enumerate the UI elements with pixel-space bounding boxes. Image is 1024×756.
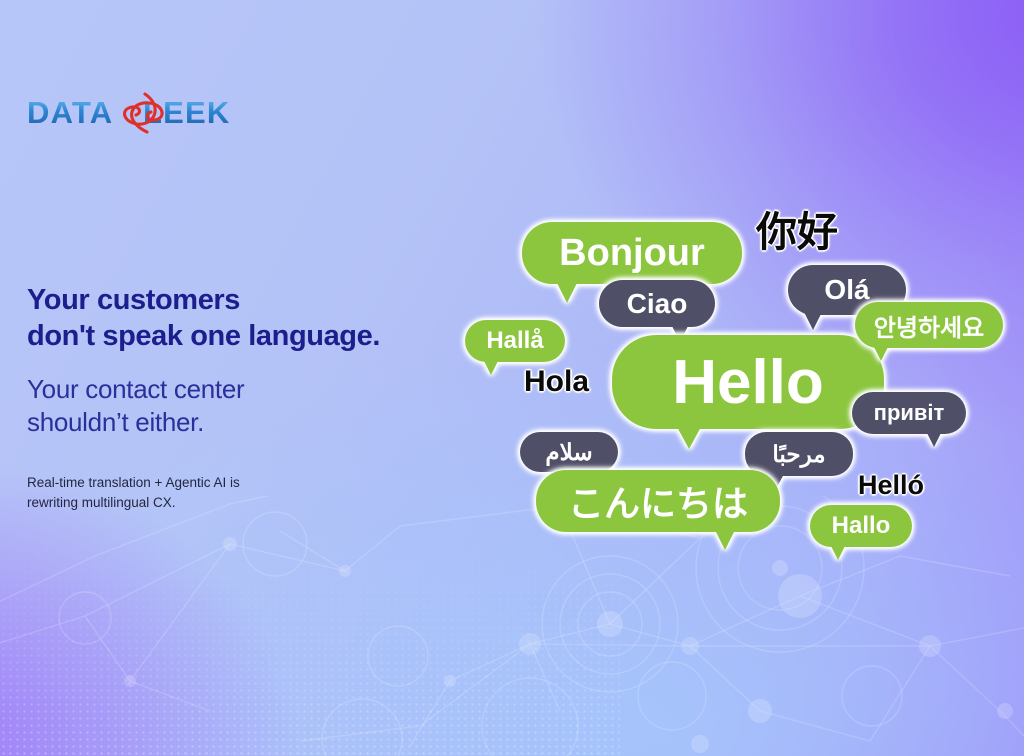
subheadline: Your contact center shouldn’t either. <box>27 373 457 440</box>
bubble-label: Hallo <box>832 512 891 540</box>
bubble-tail <box>676 425 702 449</box>
speech-bubble-halla: Hallå <box>465 320 565 362</box>
speech-bubble-hello: Hello <box>612 335 884 429</box>
speech-bubble-marhaban: مرحبًا <box>745 432 853 476</box>
bubble-tail <box>830 544 846 560</box>
bubble-label: Hello <box>672 347 824 418</box>
datasleek-logo[interactable]: DATA LEEK <box>27 86 257 140</box>
speech-bubble-hallo: Hallo <box>810 505 912 547</box>
plain-word-hello-hungarian: Helló <box>858 470 924 501</box>
plain-word-nihao: 你好 <box>756 198 838 258</box>
plain-word-hola: Hola <box>524 365 589 399</box>
bubble-tail <box>483 359 499 375</box>
promo-banner: DATA LEEK Your customers don't speak one… <box>0 0 1024 756</box>
speech-bubble-salam: سلام <box>520 432 618 472</box>
bubble-label: مرحبًا <box>772 441 825 468</box>
bubble-label: Bonjour <box>559 232 705 275</box>
bubble-label: Ciao <box>627 288 688 320</box>
kicker-text: Real-time translation + Agentic AI is re… <box>27 473 457 514</box>
copy-block: Your customers don't speak one language.… <box>27 282 457 514</box>
bubble-label: こんにちは <box>568 475 748 527</box>
speech-bubble-cluster: Bonjour Ciao Hallå Hello Olá 안녕하세요 приві… <box>440 180 1024 570</box>
speech-bubble-ciao: Ciao <box>599 280 715 327</box>
speech-bubble-konnichiwa: こんにちは <box>536 470 780 532</box>
bubble-tail <box>926 431 942 447</box>
bubble-tail <box>804 312 822 330</box>
bubble-label: سلام <box>545 439 592 466</box>
bubble-label: привіт <box>874 400 945 426</box>
bubble-tail <box>873 345 889 361</box>
bubble-label: 안녕하세요 <box>874 308 984 343</box>
bubble-label: Hallå <box>486 327 543 355</box>
bubble-tail <box>714 528 736 550</box>
bubble-tail <box>556 281 578 303</box>
speech-bubble-annyeonghaseyo: 안녕하세요 <box>855 302 1003 348</box>
page-title: Your customers don't speak one language. <box>27 282 457 355</box>
speech-bubble-pryvit: привіт <box>852 392 966 434</box>
svg-text:DATA: DATA <box>27 95 113 130</box>
speech-bubble-bonjour: Bonjour <box>522 222 742 284</box>
bubble-label: Olá <box>824 274 869 306</box>
